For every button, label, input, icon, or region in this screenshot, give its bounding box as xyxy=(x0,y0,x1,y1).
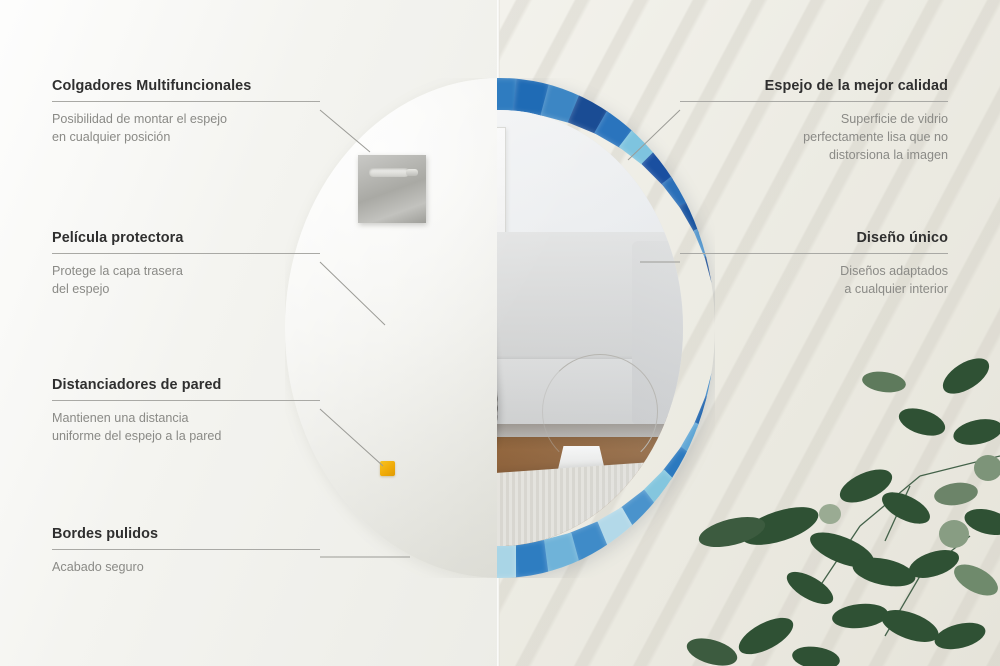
callout-calidad: Espejo de la mejor calidad Superficie de… xyxy=(680,78,948,165)
callout-rule xyxy=(52,253,320,254)
callout-description: Mantienen una distancia uniforme del esp… xyxy=(52,410,320,446)
callout-description: Diseños adaptados a cualquier interior xyxy=(680,263,948,299)
callout-colgadores: Colgadores Multifuncionales Posibilidad … xyxy=(52,78,320,147)
infographic-stage: Colgadores Multifuncionales Posibilidad … xyxy=(0,0,1000,666)
hanger-plate xyxy=(358,155,426,223)
callout-title: Distanciadores de pared xyxy=(52,377,320,393)
callout-title: Bordes pulidos xyxy=(52,526,320,542)
callout-rule xyxy=(52,101,320,102)
callout-pelicula: Película protectora Protege la capa tras… xyxy=(52,230,320,299)
callout-diseno: Diseño único Diseños adaptados a cualqui… xyxy=(680,230,948,299)
callout-description: Posibilidad de montar el espejo en cualq… xyxy=(52,111,320,147)
callout-rule xyxy=(680,101,948,102)
callout-title: Película protectora xyxy=(52,230,320,246)
callout-description: Acabado seguro xyxy=(52,559,320,577)
callout-bordes: Bordes pulidos Acabado seguro xyxy=(52,526,320,577)
callout-title: Colgadores Multifuncionales xyxy=(52,78,320,94)
mirror-product xyxy=(285,78,715,578)
wall-spacer-yellow xyxy=(380,461,395,476)
callout-title: Espejo de la mejor calidad xyxy=(680,78,948,94)
callout-distanciadores: Distanciadores de pared Mantienen una di… xyxy=(52,377,320,446)
callout-rule xyxy=(52,549,320,550)
callout-title: Diseño único xyxy=(680,230,948,246)
callout-description: Superficie de vidrio perfectamente lisa … xyxy=(680,111,948,165)
hanger-keyhole-slot xyxy=(369,168,409,177)
callout-rule xyxy=(680,253,948,254)
callout-description: Protege la capa trasera del espejo xyxy=(52,263,320,299)
callout-rule xyxy=(52,400,320,401)
